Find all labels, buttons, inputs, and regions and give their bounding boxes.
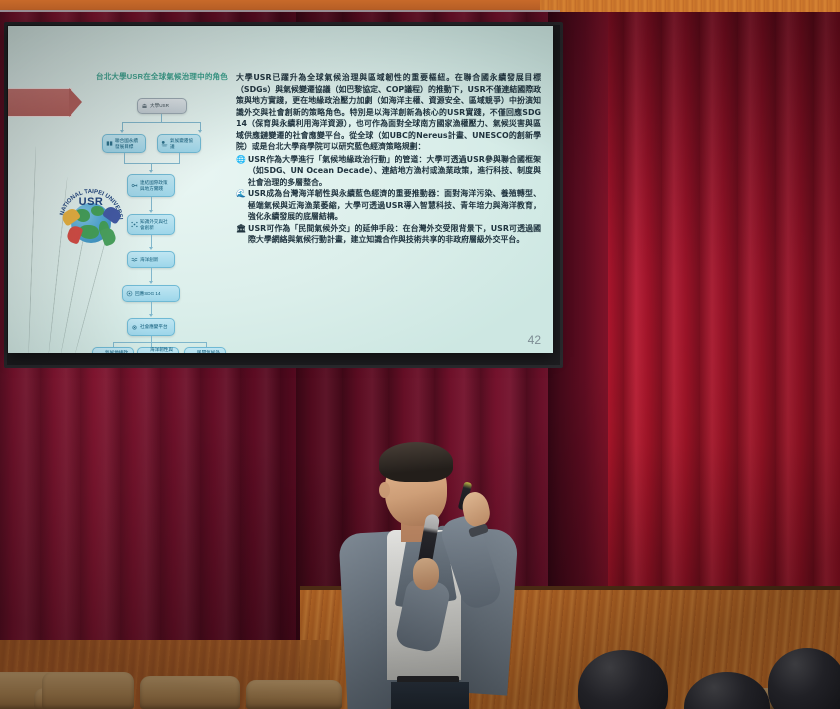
flow-node-climate: 氣候變遷協議 [157,134,201,153]
connector-arrow [149,210,153,213]
trousers [391,682,469,709]
wave-icon: 🌊 [236,188,246,223]
connector [151,197,152,211]
flow-node-platform: 社會應變平台 [127,318,175,336]
flow-node-label: 知識外交與社會創新 [140,219,171,230]
connector-arrow [198,130,202,133]
connector [151,268,152,282]
ear [379,482,390,498]
flow-node-label: 大學USR [150,103,183,109]
body-bullet-2: 🌊 USR成為台灣海洋韌性與永續藍色經濟的重要推動器：面對海洋污染、養殖轉型、極… [236,188,541,223]
audience-chair [246,680,342,709]
flow-node-leaf-blue-economy: 海洋韌性與永續藍色經濟 [137,347,179,353]
connector-arrow [149,170,153,173]
flow-node-label: 氣候變遷協議 [170,138,197,149]
flow-node-link: 連結國際政策與地方實踐 [127,174,175,197]
connector-arrow [149,247,153,250]
flow-node-leaf-climate-action: 氣候地緣政治行動 [92,347,134,353]
flow-node-sdg14: 回應SDG 14 [122,285,180,302]
projection-screen: 台北大學USR在全球氣候治理中的角色 NATIONAL TAIPEI UNIVE… [8,26,553,353]
link-icon [131,182,138,189]
presentation-slide: 台北大學USR在全球氣候治理中的角色 NATIONAL TAIPEI UNIVE… [8,26,553,353]
connector-arrow [149,281,153,284]
book-icon [106,140,113,147]
flow-node-root: 大學USR [137,98,187,114]
presenter [305,430,535,709]
connector [124,153,125,163]
audience-chair [42,672,134,709]
institution-icon: 🏛 [236,223,246,246]
slide-body-text: 大學USR已躍升為全球氣候治理與區域韌性的重要樞紐。在聯合國永續發展目標（SDG… [236,72,541,246]
university-icon [141,103,148,110]
wave-icon [131,256,138,263]
usr-logo-word: USR [54,196,128,208]
connector [113,342,207,343]
target-icon [126,290,133,297]
connector [161,114,162,122]
bullet-text: USR作為大學進行「氣候地緣政治行動」的管道：大學可透過USR參與聯合國框架（如… [248,154,541,189]
flow-node-label: 海洋韌性與永續藍色經濟 [150,347,175,353]
red-arrow-banner [8,88,72,117]
slide-page-number: 42 [528,333,541,347]
bullet-text: USR成為台灣海洋韌性與永續藍色經濟的重要推動器：面對海洋污染、養殖轉型、極端氣… [248,188,541,223]
flow-node-label: 連結國際政策與地方實踐 [140,180,171,191]
gear-icon [131,324,138,331]
compass-icon [96,353,103,354]
network-icon [131,221,138,228]
flow-node-label: 民間氣候外交 [197,350,222,353]
flow-node-diplomacy: 知識外交與社會創新 [127,214,175,235]
body-bullet-3: 🏛 USR可作為「民間氣候外交」的延伸手段：在台灣外交受限背景下，USR可透過國… [236,223,541,246]
red-arrow-head-icon [69,88,82,117]
clipboard-icon [141,353,148,354]
connector-arrow [120,130,124,133]
connector-arrow [149,314,153,317]
globe-icon: 🌐 [236,154,246,189]
connector [122,122,201,123]
connector [124,163,180,164]
flow-node-label: 聯合國永續發展目標 [115,138,142,149]
reed-decoration [28,146,36,353]
flow-node-label: 社會應變平台 [140,324,171,330]
flow-node-label: 海洋創新 [140,257,171,263]
flow-node-leaf-citizen-diplomacy: 民間氣候外交 [184,347,226,353]
lecture-hall-photo: 台北大學USR在全球氣候治理中的角色 NATIONAL TAIPEI UNIVE… [0,0,840,709]
flow-node-sdg: 聯合國永續發展目標 [102,134,146,153]
bullet-text: USR可作為「民間氣候外交」的延伸手段：在台灣外交受限背景下，USR可透過國際大… [248,223,541,246]
usr-logo: NATIONAL TAIPEI UNIVERSITY USR [54,184,128,258]
body-bullet-1: 🌐 USR作為大學進行「氣候地緣政治行動」的管道：大學可透過USR參與聯合國框架… [236,154,541,189]
climate-icon [161,140,168,147]
microphone-hand [413,558,439,590]
hair [379,442,453,482]
slide-title: 台北大學USR在全球氣候治理中的角色 [96,71,228,82]
handshake-icon [188,353,195,354]
flow-node-ocean: 海洋創新 [127,251,175,268]
body-paragraph: 大學USR已躍升為全球氣候治理與區域韌性的重要樞紐。在聯合國永續發展目標（SDG… [236,72,541,153]
flow-node-label: 氣候地緣政治行動 [105,350,130,353]
audience-chair [140,676,240,709]
connector [179,153,180,163]
flow-node-label: 回應SDG 14 [135,291,176,297]
